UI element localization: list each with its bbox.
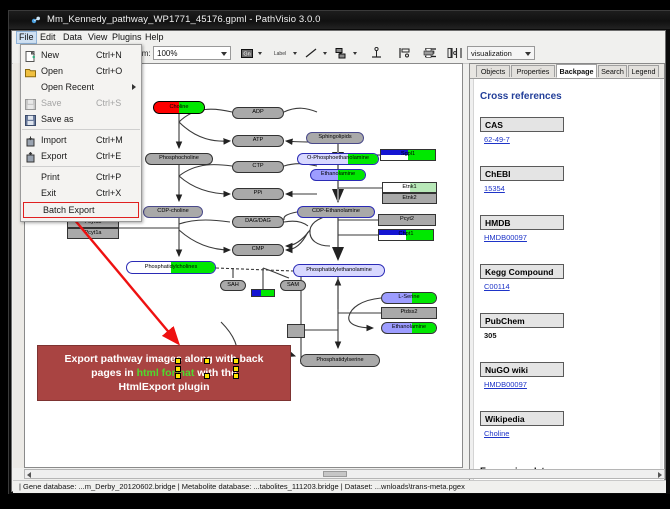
file-menu-items: NewCtrl+NOpenCtrl+OOpen RecentSaveCtrl+S… <box>21 47 141 218</box>
scroll-thumb[interactable] <box>323 471 347 477</box>
chevron-right-icon <box>132 84 136 90</box>
file-menu-accelerator: Ctrl+M <box>96 135 123 145</box>
menu-file[interactable]: File <box>16 31 37 44</box>
file-menu-label: Print <box>41 172 60 182</box>
file-menu-item-save-as[interactable]: Save as <box>21 111 141 127</box>
tab-backpage[interactable]: Backpage <box>556 64 597 78</box>
xref-value-chebi[interactable]: 15354 <box>484 184 505 193</box>
xref-header-wikipedia: Wikipedia <box>480 411 564 426</box>
file-menu-accelerator: Ctrl+P <box>96 172 121 182</box>
status-bar: | Gene database: ...m_Derby_20120602.bri… <box>13 480 666 493</box>
side-panel: Objects Properties Backpage Search Legen… <box>469 63 665 491</box>
file-menu-item-exit[interactable]: ExitCtrl+X <box>21 185 141 201</box>
file-menu-item-print[interactable]: PrintCtrl+P <box>21 169 141 185</box>
chevron-down-icon <box>221 52 227 56</box>
xref-value-pubchem: 305 <box>484 331 497 340</box>
window-title: Mm_Kennedy_pathway_WP1771_45176.gpml - P… <box>47 14 321 25</box>
menu-separator <box>22 166 140 167</box>
datanode-dropdown-icon[interactable] <box>258 52 262 55</box>
file-menu-accelerator: Ctrl+N <box>96 50 122 60</box>
label-tool-button[interactable]: Label <box>270 46 290 60</box>
align-top-button[interactable] <box>368 46 384 60</box>
xref-header-kegg-compound: Kegg Compound <box>480 264 564 279</box>
datanode-tool-button[interactable]: Gn <box>240 46 254 60</box>
label-dropdown-icon[interactable] <box>293 52 297 55</box>
menu-separator <box>22 129 140 130</box>
line-tool-button[interactable] <box>304 46 318 60</box>
window-client-area: File Edit Data View Plugins Help Zoom: 1… <box>11 30 666 492</box>
backpage-content: Cross references CAS62-49-7ChEBI15354HMD… <box>474 79 660 489</box>
menu-plugins[interactable]: Plugins <box>109 32 145 43</box>
xref-header-hmdb: HMDB <box>480 215 564 230</box>
cross-references-heading: Cross references <box>480 91 562 102</box>
save-icon <box>25 97 36 108</box>
file-menu-accelerator: Ctrl+O <box>96 66 122 76</box>
file-menu-item-save: SaveCtrl+S <box>21 95 141 111</box>
menu-edit[interactable]: Edit <box>37 32 59 43</box>
file-menu-label: Save as <box>41 114 74 124</box>
menu-help[interactable]: Help <box>142 32 167 43</box>
visualization-combobox[interactable]: visualization <box>467 46 535 60</box>
zoom-value: 100% <box>157 49 177 58</box>
file-menu-item-import[interactable]: ImportCtrl+M <box>21 132 141 148</box>
xref-value-wikipedia[interactable]: Choline <box>484 429 509 438</box>
file-menu-label: Save <box>41 98 62 108</box>
import-icon <box>25 134 36 145</box>
export-icon <box>25 150 36 161</box>
tab-objects[interactable]: Objects <box>476 65 510 77</box>
file-menu-accelerator: Ctrl+X <box>96 188 121 198</box>
tab-search[interactable]: Search <box>598 65 627 77</box>
file-menu-item-open-recent[interactable]: Open Recent <box>21 79 141 95</box>
application-window: Mm_Kennedy_pathway_WP1771_45176.gpml - P… <box>8 10 670 494</box>
xref-header-chebi: ChEBI <box>480 166 564 181</box>
svg-text:Gn: Gn <box>243 51 250 57</box>
visualization-chevron-down-icon <box>525 52 531 56</box>
file-menu-dropdown[interactable]: NewCtrl+NOpenCtrl+OOpen RecentSaveCtrl+S… <box>20 44 142 222</box>
align-left-button[interactable] <box>396 46 412 60</box>
new-file-icon <box>25 49 36 60</box>
file-menu-item-batch-export[interactable]: Batch Export <box>23 202 139 218</box>
scroll-left-icon[interactable] <box>27 472 31 478</box>
print-toolbar-button[interactable] <box>420 46 436 60</box>
file-menu-label: Batch Export <box>43 205 95 215</box>
file-menu-label: Exit <box>41 188 56 198</box>
shape-tool-button[interactable] <box>334 46 348 60</box>
xref-value-cas[interactable]: 62-49-7 <box>484 135 510 144</box>
visualization-value: visualization <box>471 49 512 58</box>
xref-value-nugo-wiki[interactable]: HMDB00097 <box>484 380 527 389</box>
horizontal-scrollbar[interactable] <box>24 469 665 479</box>
shape-dropdown-icon[interactable] <box>353 52 357 55</box>
xref-value-hmdb[interactable]: HMDB00097 <box>484 233 527 242</box>
side-panel-tabs: Objects Properties Backpage Search Legen… <box>470 64 664 79</box>
file-menu-accelerator: Ctrl+E <box>96 151 121 161</box>
menu-data[interactable]: Data <box>60 32 85 43</box>
save-as-icon <box>25 113 36 124</box>
file-menu-label: Open Recent <box>41 82 94 92</box>
screenshot-root: Mm_Kennedy_pathway_WP1771_45176.gpml - P… <box>0 0 670 509</box>
svg-text:Label: Label <box>274 51 286 57</box>
file-menu-item-new[interactable]: NewCtrl+N <box>21 47 141 63</box>
file-menu-item-open[interactable]: OpenCtrl+O <box>21 63 141 79</box>
file-menu-label: New <box>41 50 59 60</box>
tab-legend[interactable]: Legend <box>628 65 659 77</box>
menu-bar: File Edit Data View Plugins Help <box>12 31 665 45</box>
pathvisio-icon <box>31 15 41 25</box>
scroll-right-icon[interactable] <box>658 472 662 478</box>
file-menu-label: Export <box>41 151 67 161</box>
tab-properties[interactable]: Properties <box>511 65 555 77</box>
xref-header-cas: CAS <box>480 117 564 132</box>
file-menu-accelerator: Ctrl+S <box>96 98 121 108</box>
xref-header-pubchem: PubChem <box>480 313 564 328</box>
xref-header-nugo-wiki: NuGO wiki <box>480 362 564 377</box>
file-menu-label: Open <box>41 66 63 76</box>
properties-toolbar-button[interactable] <box>444 46 460 60</box>
file-menu-item-export[interactable]: ExportCtrl+E <box>21 148 141 164</box>
open-folder-icon <box>25 65 36 76</box>
file-menu-label: Import <box>41 135 67 145</box>
line-dropdown-icon[interactable] <box>323 52 327 55</box>
status-text: | Gene database: ...m_Derby_20120602.bri… <box>19 482 465 491</box>
menu-view[interactable]: View <box>85 32 110 43</box>
title-bar: Mm_Kennedy_pathway_WP1771_45176.gpml - P… <box>9 11 670 29</box>
zoom-combobox[interactable]: 100% <box>153 46 231 60</box>
xref-value-kegg-compound[interactable]: C00114 <box>484 282 510 291</box>
